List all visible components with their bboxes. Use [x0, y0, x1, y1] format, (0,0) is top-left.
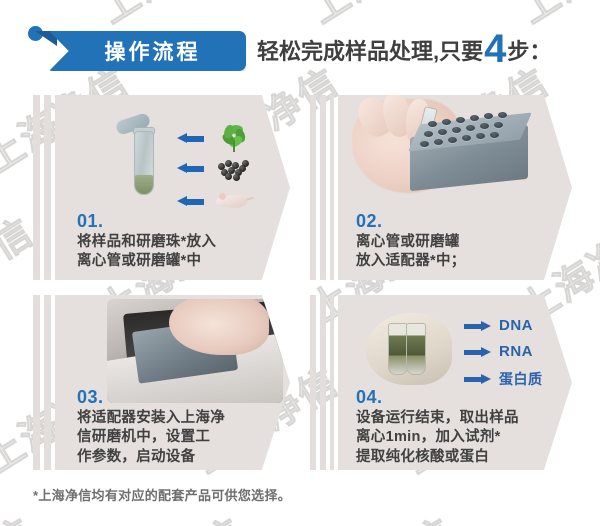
- watermark-text: 上海净信: [298, 502, 463, 526]
- card-body-04: DNA RNA 蛋白质 04. 设备运行结束，取出样品 离心1min，加入试剂*…: [338, 295, 572, 470]
- card-bar-2: [44, 295, 51, 470]
- step-number-04: 04.: [356, 387, 383, 408]
- centrifuge-tube-icon: [130, 117, 156, 195]
- card-bar-1: [33, 95, 40, 280]
- output-label-protein: 蛋白质: [499, 369, 543, 389]
- card-bar-1: [310, 295, 316, 470]
- watermark-text: 上海净信: [88, 502, 253, 526]
- step-number-03: 03.: [77, 387, 104, 408]
- headline: 轻松完成样品处理,只要 4 步：: [257, 28, 551, 66]
- step-number-01: 01.: [77, 211, 104, 232]
- sample-row-beads: [177, 157, 250, 179]
- step-card-04: DNA RNA 蛋白质 04. 设备运行结束，取出样品 离心1min，加入试剂*…: [310, 295, 572, 470]
- headline-prefix: 轻松完成样品处理,只要: [257, 34, 483, 66]
- step-number-02: 02.: [356, 211, 383, 232]
- step-card-03: 03. 将适配器安装入上海净 信研磨机中，设置工 作参数，启动设备: [33, 295, 290, 470]
- card-bar-3: [330, 95, 334, 280]
- watermark-text: 上海净信: [0, 502, 42, 526]
- output-label-dna: DNA: [499, 317, 533, 334]
- step-card-02: 02. 离心管或研磨罐 放入适配器*中；: [310, 95, 572, 280]
- headline-suffix: 步：: [507, 34, 551, 66]
- photo-hand-adapter: [344, 95, 534, 207]
- output-row-protein: 蛋白质: [464, 369, 543, 389]
- mouse-icon: [216, 190, 252, 212]
- arrow-right-icon: [464, 347, 491, 357]
- sample-vial: [406, 323, 426, 375]
- ribbon-title: 操作流程: [49, 31, 246, 71]
- photo-gloved-hand-vials: [348, 301, 468, 391]
- photo-grinder-install: [107, 299, 283, 403]
- output-row-dna: DNA: [464, 317, 533, 334]
- arrow-left-icon: [177, 196, 204, 207]
- step-text-03: 将适配器安装入上海净 信研磨机中，设置工 作参数，启动设备: [77, 409, 225, 467]
- card-bar-2: [320, 295, 326, 470]
- step-text-01: 将样品和研磨珠*放入 离心管或研磨罐*中: [77, 233, 216, 272]
- arrow-left-icon: [177, 133, 204, 144]
- arrow-right-icon: [464, 374, 491, 384]
- card-body-03: 03. 将适配器安装入上海净 信研磨机中，设置工 作参数，启动设备: [55, 295, 290, 470]
- card-bar-1: [310, 95, 316, 280]
- infographic-page: 操作流程 轻松完成样品处理,只要 4 步：: [0, 0, 600, 526]
- step-text-04: 设备运行结束，取出样品 离心1min，加入试剂* 提取纯化核酸或蛋白: [356, 409, 519, 467]
- sample-vial: [388, 323, 408, 375]
- step-card-01: 01. 将样品和研磨珠*放入 离心管或研磨罐*中: [33, 95, 290, 280]
- card-bar-3: [330, 295, 334, 470]
- output-label-rna: RNA: [499, 343, 533, 360]
- card-bar-1: [33, 295, 40, 470]
- step-text-02: 离心管或研磨罐 放入适配器*中；: [356, 233, 466, 272]
- output-row-rna: RNA: [464, 343, 533, 360]
- card-body-01: 01. 将样品和研磨珠*放入 离心管或研磨罐*中: [55, 95, 290, 280]
- leaf-icon: [216, 123, 250, 153]
- grinding-beads-icon: [216, 157, 250, 179]
- arrow-left-icon: [177, 163, 204, 174]
- card-body-02: 02. 离心管或研磨罐 放入适配器*中；: [338, 95, 572, 280]
- card-bar-2: [320, 95, 326, 280]
- sample-row-mouse: [177, 190, 252, 212]
- header: 操作流程 轻松完成样品处理,只要 4 步：: [0, 22, 600, 80]
- watermark-text: 上海净信: [508, 502, 600, 526]
- headline-step-count: 4: [484, 31, 506, 67]
- tube-liquid: [135, 175, 153, 194]
- card-bar-2: [44, 95, 51, 280]
- arrow-right-icon: [464, 321, 491, 331]
- footnote: *上海净信均有对应的配套产品可供您选择。: [33, 485, 291, 504]
- sample-row-plant: [177, 123, 250, 153]
